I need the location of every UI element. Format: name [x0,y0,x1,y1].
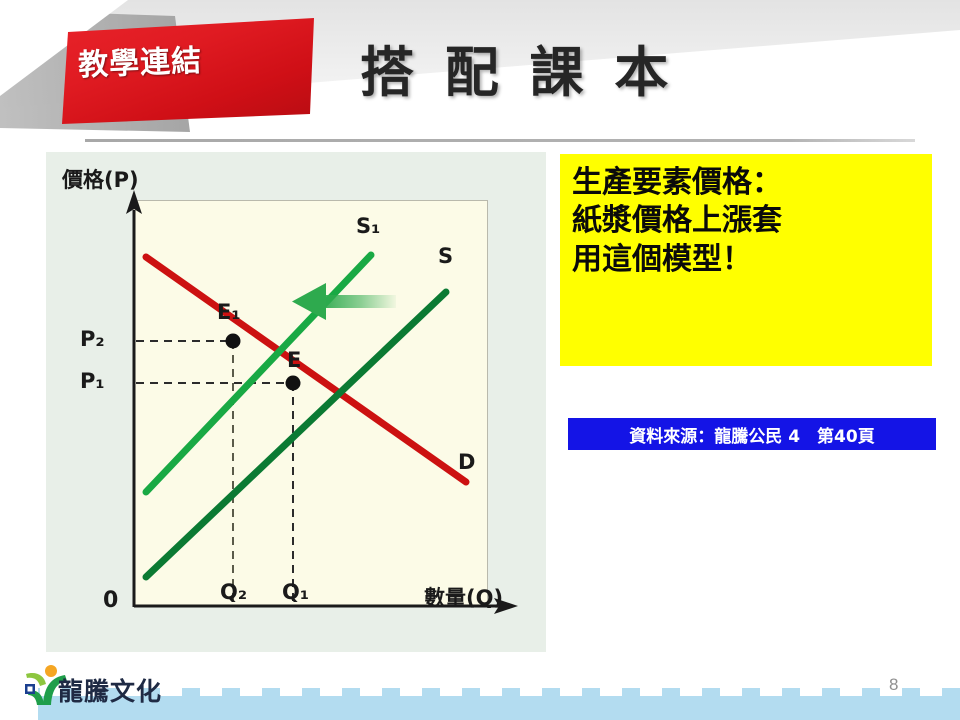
chart-graphics [46,152,546,652]
chart-y-axis-title: 價格(P) [62,164,139,194]
supply-demand-chart: 價格(P) 數量(Q) 0 P₂ P₁ Q₂ Q₁ E₁ E S₁ S D [46,152,546,652]
chart-origin-label: 0 [103,588,118,613]
header-divider [85,139,915,142]
chart-point-label-e: E [287,348,301,372]
page-title: 搭 配 課 本 [360,28,674,107]
source-citation-box: 資料來源：龍騰公民 4 第40頁 [568,418,936,450]
chart-x-axis-title: 數量(Q) [424,582,503,612]
chart-xtick-q2: Q₂ [220,580,247,604]
page-number: 8 [889,675,898,695]
chart-xtick-q1: Q₁ [282,580,309,604]
highlight-callout-text: 生產要素價格： 紙漿價格上漲套 用這個模型！ [572,164,924,279]
chart-series-label-d: D [458,450,475,474]
callout-line-2: 紙漿價格上漲套 [572,202,924,240]
section-banner-label: 教學連結 [77,32,303,85]
slide: 教學連結 搭 配 課 本 [0,0,960,720]
highlight-callout-box: 生產要素價格： 紙漿價格上漲套 用這個模型！ [560,154,932,366]
chart-series-label-s: S [438,244,453,268]
chart-series-label-s1: S₁ [356,214,380,238]
chart-ytick-p1: P₁ [80,369,105,393]
source-citation-text: 資料來源：龍騰公民 4 第40頁 [629,422,874,447]
chart-ytick-p2: P₂ [80,327,105,351]
callout-line-1: 生產要素價格： [572,164,924,202]
callout-line-3: 用這個模型！ [572,241,924,279]
chart-point-label-e1: E₁ [217,300,241,324]
shift-arrow-icon [292,283,396,320]
footer-brand-name: 龍騰文化 [58,672,162,708]
